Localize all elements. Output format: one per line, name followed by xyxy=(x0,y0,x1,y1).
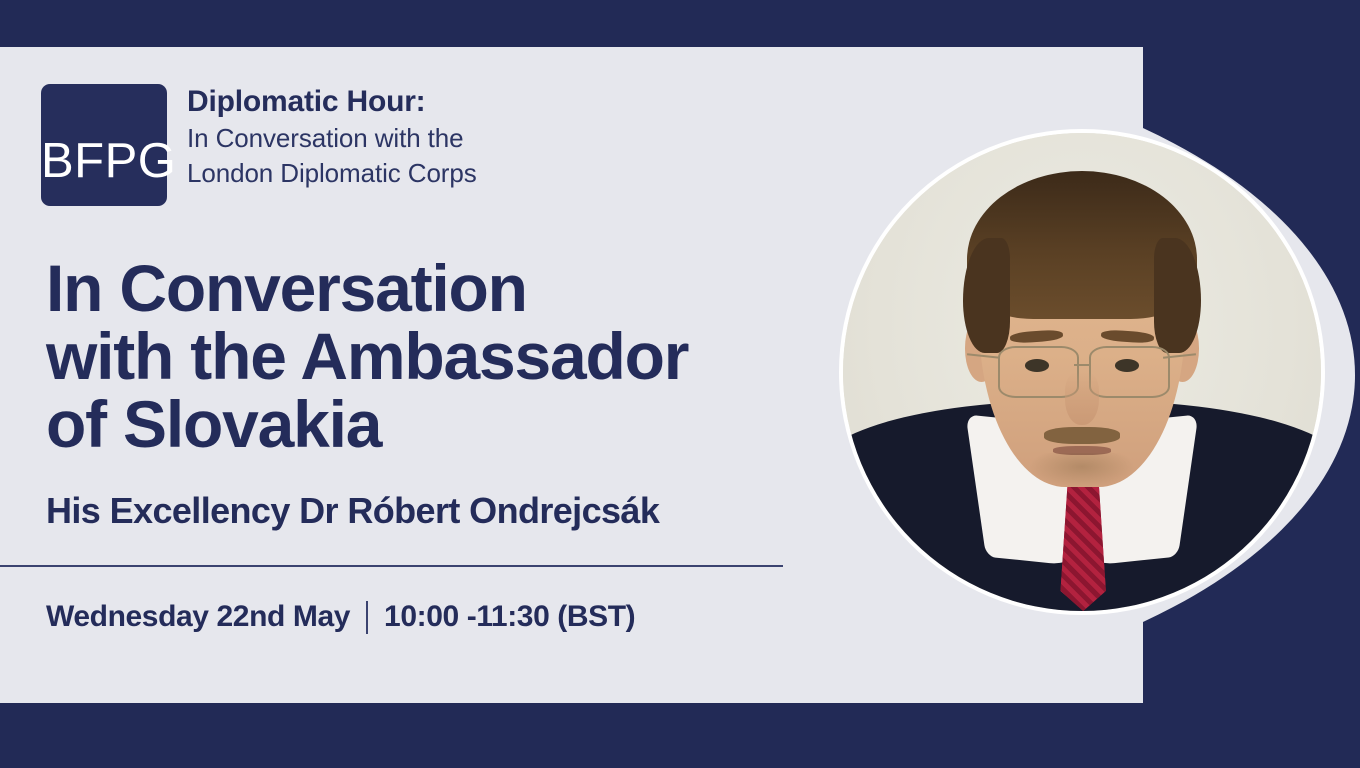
page-title: In Conversation with the Ambassador of S… xyxy=(46,254,846,458)
event-poster: BFPG Diplomatic Hour: In Conversation wi… xyxy=(0,0,1360,768)
portrait-moustache xyxy=(1044,427,1120,444)
portrait-glasses-right-lens xyxy=(1089,346,1169,398)
speaker-name: His Excellency Dr Róbert Ondrejcsák xyxy=(46,489,866,533)
bfpg-logo: BFPG xyxy=(41,84,167,206)
title-line-3: of Slovakia xyxy=(46,390,846,458)
title-line-2: with the Ambassador xyxy=(46,322,846,390)
series-subtitle-line-1: In Conversation with the xyxy=(187,121,807,156)
bfpg-logo-text: BFPG xyxy=(41,133,167,189)
divider xyxy=(0,565,783,567)
series-title: Diplomatic Hour: xyxy=(187,83,807,121)
title-line-1: In Conversation xyxy=(46,254,846,322)
portrait-glasses-bridge xyxy=(1074,364,1091,366)
event-date: Wednesday 22nd May xyxy=(46,597,350,637)
datetime-separator xyxy=(366,601,368,634)
series-header: Diplomatic Hour: In Conversation with th… xyxy=(187,83,807,191)
series-subtitle-line-2: London Diplomatic Corps xyxy=(187,156,807,191)
speaker-portrait xyxy=(843,133,1321,611)
portrait-nose xyxy=(1065,372,1098,425)
event-datetime: Wednesday 22nd May 10:00 -11:30 (BST) xyxy=(46,597,635,637)
event-time: 10:00 -11:30 (BST) xyxy=(384,597,635,637)
portrait-tie xyxy=(1060,468,1105,611)
portrait-chin-shadow xyxy=(1029,453,1134,486)
